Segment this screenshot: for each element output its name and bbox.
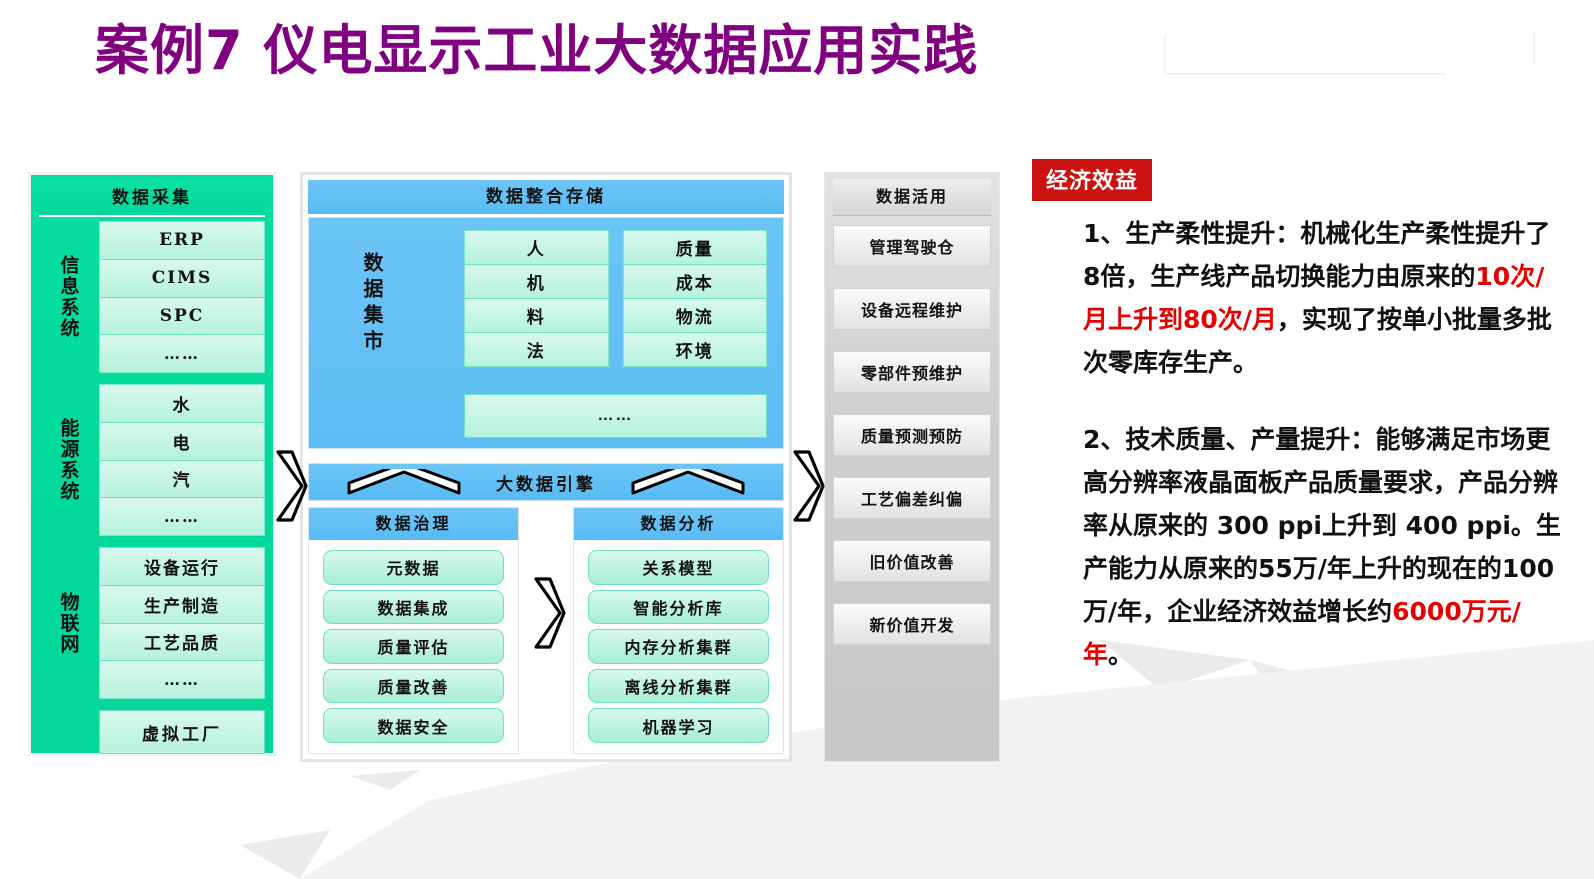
list-item[interactable]: …… — [100, 498, 264, 535]
list-item[interactable]: 质量预测预防 — [833, 414, 991, 456]
list-item[interactable]: 旧价值改善 — [833, 540, 991, 582]
list-item[interactable]: 机器学习 — [588, 708, 769, 743]
data-mart-label: 数据集市 — [347, 252, 387, 356]
data-storage-section: 数据整合存储 数据集市 人 机 料 法 质量 成本 物流 环境 — [308, 180, 784, 450]
group-energy-system: 能源系统 水 电 汽 …… — [39, 384, 265, 536]
chevron-right-icon-governance-to-analysis — [530, 575, 566, 651]
list-item[interactable]: 料 — [465, 299, 608, 333]
list-item[interactable]: SPC — [100, 298, 264, 336]
list-item[interactable]: …… — [100, 335, 264, 372]
group-label-iot: 物联网 — [39, 547, 99, 699]
data-application-header: 数据活用 — [833, 179, 991, 216]
list-item[interactable]: 数据安全 — [323, 708, 504, 743]
ghost-placeholder-frame — [1164, 35, 1446, 75]
list-item[interactable]: 人 — [465, 231, 608, 265]
list-item[interactable]: 智能分析库 — [588, 590, 769, 625]
benefit-paragraph-1: 1、生产柔性提升：机械化生产柔性提升了8倍，生产线产品切换能力由原来的10次/月… — [1083, 212, 1563, 384]
list-item[interactable]: 设备运行 — [100, 548, 264, 586]
list-item[interactable]: 质量 — [624, 231, 767, 265]
list-item-virtual-factory[interactable]: 虚拟工厂 — [99, 710, 265, 754]
list-item[interactable]: 数据集成 — [323, 590, 504, 625]
chevron-up-icon-right — [629, 469, 747, 497]
list-item[interactable]: 质量改善 — [323, 669, 504, 704]
data-governance-panel: 数据治理 元数据 数据集成 质量评估 质量改善 数据安全 — [308, 507, 519, 754]
list-item-mart-more[interactable]: …… — [464, 394, 767, 438]
group-label-energy-system: 能源系统 — [39, 384, 99, 536]
data-mart-column-right: 质量 成本 物流 环境 — [623, 230, 768, 367]
list-item[interactable]: 质量评估 — [323, 629, 504, 664]
data-collection-body: 信息系统 ERP CIMS SPC …… 能源系统 水 电 汽 …… 物联网 — [39, 221, 265, 745]
ghost-placeholder-tick — [1533, 33, 1535, 65]
chevron-right-icon-center-to-apply — [789, 448, 825, 524]
list-item[interactable]: 成本 — [624, 265, 767, 299]
data-analysis-panel: 数据分析 关系模型 智能分析库 内存分析集群 离线分析集群 机器学习 — [573, 507, 784, 754]
economic-benefit-text: 1、生产柔性提升：机械化生产柔性提升了8倍，生产线产品切换能力由原来的10次/月… — [1083, 212, 1563, 676]
list-item[interactable]: 关系模型 — [588, 550, 769, 585]
list-item[interactable]: 工艺偏差纠偏 — [833, 477, 991, 519]
group-iot: 物联网 设备运行 生产制造 工艺品质 …… — [39, 547, 265, 699]
data-mart-columns: 人 机 料 法 质量 成本 物流 环境 — [464, 230, 767, 367]
chevron-up-icon-left — [345, 469, 463, 497]
list-item[interactable]: 工艺品质 — [100, 624, 264, 662]
benefit-paragraph-2: 2、技术质量、产量提升：能够满足市场更高分辨率液晶面板产品质量要求，产品分辨率从… — [1083, 418, 1563, 676]
list-item[interactable]: 设备远程维护 — [833, 288, 991, 330]
data-storage-body: 数据集市 人 机 料 法 质量 成本 物流 环境 …… — [308, 217, 784, 449]
data-application-items: 管理驾驶仓 设备远程维护 零部件预维护 质量预测预防 工艺偏差纠偏 旧价值改善 … — [833, 225, 991, 671]
list-item[interactable]: 管理驾驶仓 — [833, 225, 991, 267]
slide-canvas: 案例7 仪电显示工业大数据应用实践 数据采集 信息系统 ERP CIMS SPC… — [0, 0, 1594, 879]
data-analysis-items: 关系模型 智能分析库 内存分析集群 离线分析集群 机器学习 — [574, 542, 783, 753]
list-item[interactable]: 环境 — [624, 333, 767, 366]
big-data-engine-label: 大数据引擎 — [496, 470, 596, 495]
list-item[interactable]: 汽 — [100, 461, 264, 499]
list-item[interactable]: 离线分析集群 — [588, 669, 769, 704]
list-item[interactable]: 元数据 — [323, 550, 504, 585]
group-label-information-system: 信息系统 — [39, 221, 99, 373]
list-item[interactable]: 生产制造 — [100, 586, 264, 624]
group-information-system: 信息系统 ERP CIMS SPC …… — [39, 221, 265, 373]
data-storage-header: 数据整合存储 — [308, 180, 784, 217]
list-item[interactable]: 机 — [465, 265, 608, 299]
data-analysis-header: 数据分析 — [574, 508, 783, 542]
list-item[interactable]: 法 — [465, 333, 608, 366]
data-governance-items: 元数据 数据集成 质量评估 质量改善 数据安全 — [309, 542, 518, 753]
list-item[interactable]: ERP — [100, 222, 264, 260]
chevron-right-icon-collect-to-center — [272, 448, 308, 524]
list-item[interactable]: …… — [100, 661, 264, 698]
data-application-panel: 数据活用 管理驾驶仓 设备远程维护 零部件预维护 质量预测预防 工艺偏差纠偏 旧… — [824, 172, 1000, 762]
data-integration-panel: 数据整合存储 数据集市 人 机 料 法 质量 成本 物流 环境 — [300, 172, 792, 762]
big-data-engine-bar: 大数据引擎 — [308, 463, 784, 501]
data-collection-header: 数据采集 — [39, 181, 265, 217]
list-item[interactable]: 物流 — [624, 299, 767, 333]
list-item[interactable]: 新价值开发 — [833, 603, 991, 645]
benefit-p2-before: 2、技术质量、产量提升：能够满足市场更高分辨率液晶面板产品质量要求，产品分辨率从… — [1083, 425, 1561, 626]
list-item[interactable]: CIMS — [100, 260, 264, 298]
list-item[interactable]: 水 — [100, 385, 264, 423]
data-governance-header: 数据治理 — [309, 508, 518, 542]
list-item[interactable]: 电 — [100, 423, 264, 461]
slide-title: 案例7 仪电显示工业大数据应用实践 — [95, 6, 978, 85]
list-item[interactable]: 内存分析集群 — [588, 629, 769, 664]
economic-benefit-badge: 经济效益 — [1032, 159, 1152, 201]
data-collection-panel: 数据采集 信息系统 ERP CIMS SPC …… 能源系统 水 电 汽 …… — [28, 172, 276, 756]
benefit-p2-after: 。 — [1108, 640, 1133, 669]
data-mart-column-left: 人 机 料 法 — [464, 230, 609, 367]
list-item[interactable]: 零部件预维护 — [833, 351, 991, 393]
